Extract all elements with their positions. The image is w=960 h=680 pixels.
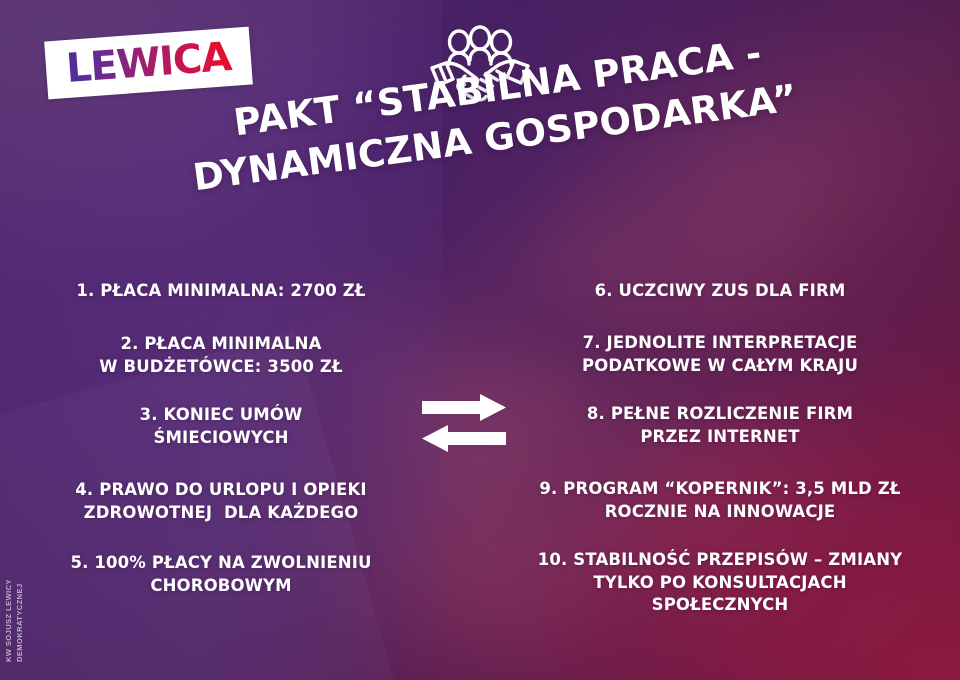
list-item-line: ZDROWOTNEJ DLA KAŻDEGO [26, 502, 416, 524]
list-item-line: TYLKO PO KONSULTACJACH [500, 572, 940, 594]
list-item-line: 3. KONIEC UMÓW [26, 404, 416, 426]
list-item-line: 8. PEŁNE ROZLICZENIE FIRM [500, 403, 940, 425]
list-item-line: 5. 100% PŁACY NA ZWOLNIENIU [26, 552, 416, 574]
list-item-line: PRZEZ INTERNET [500, 426, 940, 448]
list-item-line: W BUDŻETÓWCE: 3500 ZŁ [26, 356, 416, 378]
list-item-line: 10. STABILNOŚĆ PRZEPISÓW – ZMIANY [500, 549, 940, 571]
list-item: 10. STABILNOŚĆ PRZEPISÓW – ZMIANY TYLKO … [500, 549, 940, 616]
list-item: 7. JEDNOLITE INTERPRETACJE PODATKOWE W C… [500, 332, 940, 377]
list-item-line: 4. PRAWO DO URLOPU I OPIEKI [26, 479, 416, 501]
list-item-line: 6. UCZCIWY ZUS DLA FIRM [500, 280, 940, 302]
list-item-line: CHOROBOWYM [26, 575, 416, 597]
campaign-poster: LEWICA [0, 0, 960, 680]
list-item: 9. PROGRAM “KOPERNIK”: 3,5 MLD ZŁ ROCZNI… [500, 478, 940, 523]
list-item-line: SPOŁECZNYCH [500, 594, 940, 616]
list-item: 1. PŁACA MINIMALNA: 2700 ZŁ [26, 280, 416, 302]
list-item-line: 1. PŁACA MINIMALNA: 2700 ZŁ [26, 280, 416, 302]
list-item: 8. PEŁNE ROZLICZENIE FIRM PRZEZ INTERNET [500, 403, 940, 448]
postulates-right-column: 6. UCZCIWY ZUS DLA FIRM 7. JEDNOLITE INT… [500, 280, 940, 616]
list-item-line: 2. PŁACA MINIMALNA [26, 333, 416, 355]
list-item: 6. UCZCIWY ZUS DLA FIRM [500, 280, 940, 302]
postulates-left-column: 1. PŁACA MINIMALNA: 2700 ZŁ 2. PŁACA MIN… [26, 280, 416, 597]
list-item-line: PODATKOWE W CAŁYM KRAJU [500, 355, 940, 377]
list-item: 5. 100% PŁACY NA ZWOLNIENIU CHOROBOWYM [26, 552, 416, 597]
list-item: 3. KONIEC UMÓW ŚMIECIOWYCH [26, 404, 416, 449]
list-item-line: 7. JEDNOLITE INTERPRETACJE [500, 332, 940, 354]
list-item: 2. PŁACA MINIMALNA W BUDŻETÓWCE: 3500 ZŁ [26, 333, 416, 378]
lewica-logo-text: LEWICA [61, 37, 236, 90]
list-item: 4. PRAWO DO URLOPU I OPIEKI ZDROWOTNEJ D… [26, 479, 416, 524]
committee-credit: KW SOJUSZ LEWICY DEMOKRATYCZNEJ [4, 579, 26, 662]
list-item-line: 9. PROGRAM “KOPERNIK”: 3,5 MLD ZŁ [500, 478, 940, 500]
exchange-arrows-icon [420, 394, 508, 452]
list-item-line: ŚMIECIOWYCH [26, 427, 416, 449]
list-item-line: ROCZNIE NA INNOWACJE [500, 501, 940, 523]
